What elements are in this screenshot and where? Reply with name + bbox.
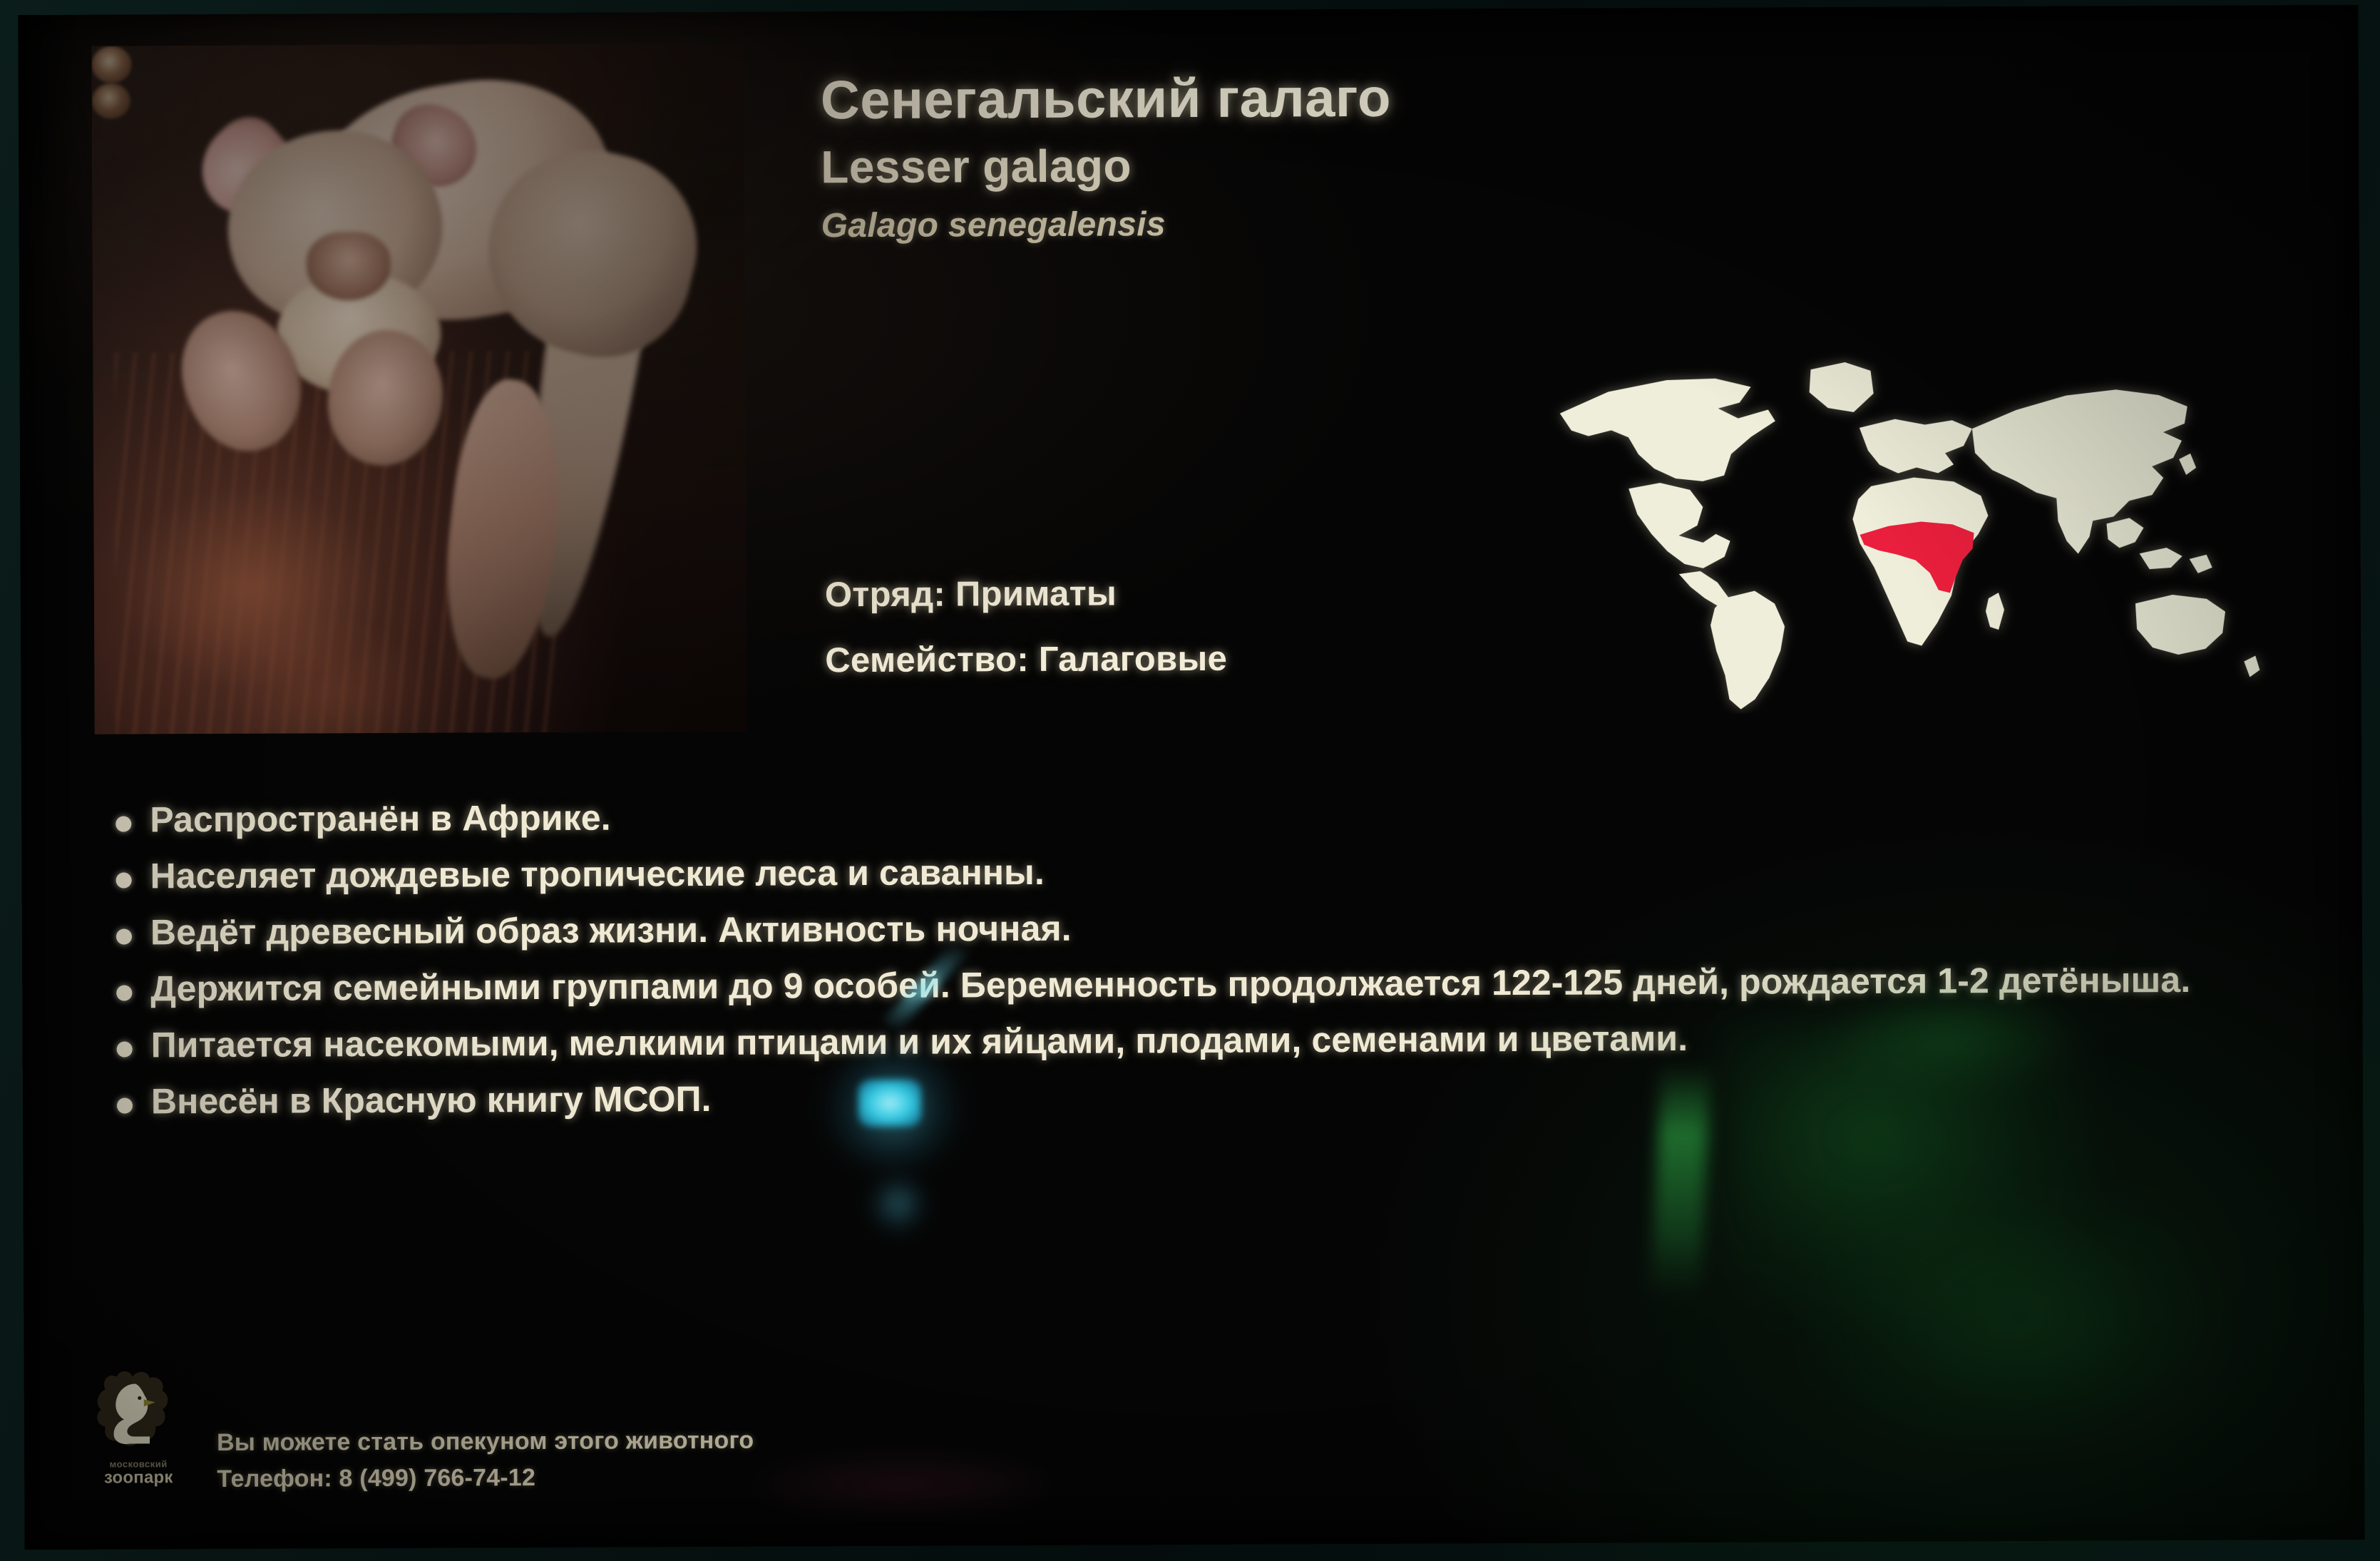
landmass-europe <box>1860 419 1972 474</box>
patron-invitation-text: Вы можете стать опекуном этого животного <box>217 1427 754 1457</box>
fact-text: Ведёт древесный образ жизни. Активность … <box>150 901 2298 955</box>
sign-outer-frame: Сенегальский галаго Lesser galago Galago… <box>0 0 2380 1561</box>
species-name-russian: Сенегальский галаго <box>821 68 1890 129</box>
bullet-icon <box>116 985 132 1000</box>
bullet-icon <box>117 1097 133 1113</box>
landmass-southeast-asia <box>2106 518 2212 574</box>
moscow-zoo-logo: московский зоопарк <box>96 1368 182 1498</box>
galago-muzzle <box>307 232 391 301</box>
information-sign-panel: Сенегальский галаго Lesser galago Galago… <box>18 5 2364 1550</box>
animal-photo <box>92 43 747 735</box>
landmass-japan <box>2179 454 2196 475</box>
fact-item: Внесён в Красную книгу МСОП. <box>117 1070 2299 1124</box>
species-title-block: Сенегальский галаго Lesser galago Galago… <box>821 68 1891 245</box>
fact-item: Держится семейными группами до 9 особей.… <box>116 957 2298 1011</box>
bullet-icon <box>116 816 131 831</box>
fact-text: Держится семейными группами до 9 особей.… <box>150 957 2298 1011</box>
zoo-logo-icon <box>96 1368 182 1458</box>
bullet-icon <box>116 928 132 944</box>
species-name-latin: Galago senegalensis <box>821 202 1891 246</box>
facts-list: Распространён в Африке. Населяет дождевы… <box>116 788 2299 1135</box>
logo-eye <box>138 1396 141 1400</box>
galago-eye-left <box>92 46 132 83</box>
world-distribution-map <box>1488 326 2302 715</box>
fact-text: Распространён в Африке. <box>150 788 2297 842</box>
landmass-australia <box>2135 595 2225 655</box>
bullet-icon <box>116 872 132 888</box>
bullet-icon <box>117 1041 133 1057</box>
world-map-svg <box>1488 326 2302 715</box>
green-lower-reflection <box>1820 1211 2220 1448</box>
landmass-madagascar <box>1986 593 2004 630</box>
species-name-english: Lesser galago <box>821 136 1890 194</box>
fact-text: Питается насекомыми, мелкими птицами и и… <box>150 1013 2298 1068</box>
landmass-greenland <box>1809 362 1873 412</box>
logo-caption-main: зоопарк <box>96 1468 181 1487</box>
fact-item: Распространён в Африке. <box>116 788 2297 842</box>
fact-item: Питается насекомыми, мелкими птицами и и… <box>116 1013 2298 1068</box>
landmass-new-zealand <box>2244 655 2260 677</box>
magenta-glare-reflection <box>752 1458 1051 1510</box>
cyan-lower-reflection <box>870 1175 925 1232</box>
logo-caption-top: московский <box>96 1459 181 1469</box>
footer-text-block: Вы можете стать опекуном этого животного… <box>217 1427 754 1498</box>
landmass-south-america <box>1710 590 1785 709</box>
fact-text: Населяет дождевые тропические леса и сав… <box>150 844 2297 899</box>
galago-eye-right <box>92 83 130 118</box>
fact-text: Внесён в Красную книгу МСОП. <box>151 1070 2299 1124</box>
footer-block: московский зоопарк Вы можете стать опеку… <box>96 1366 754 1498</box>
fact-item: Населяет дождевые тропические леса и сав… <box>116 844 2297 899</box>
contact-phone-text: Телефон: 8 (499) 766-74-12 <box>217 1463 754 1493</box>
landmass-north-america <box>1560 378 1776 568</box>
fact-item: Ведёт древесный образ жизни. Активность … <box>116 901 2298 955</box>
